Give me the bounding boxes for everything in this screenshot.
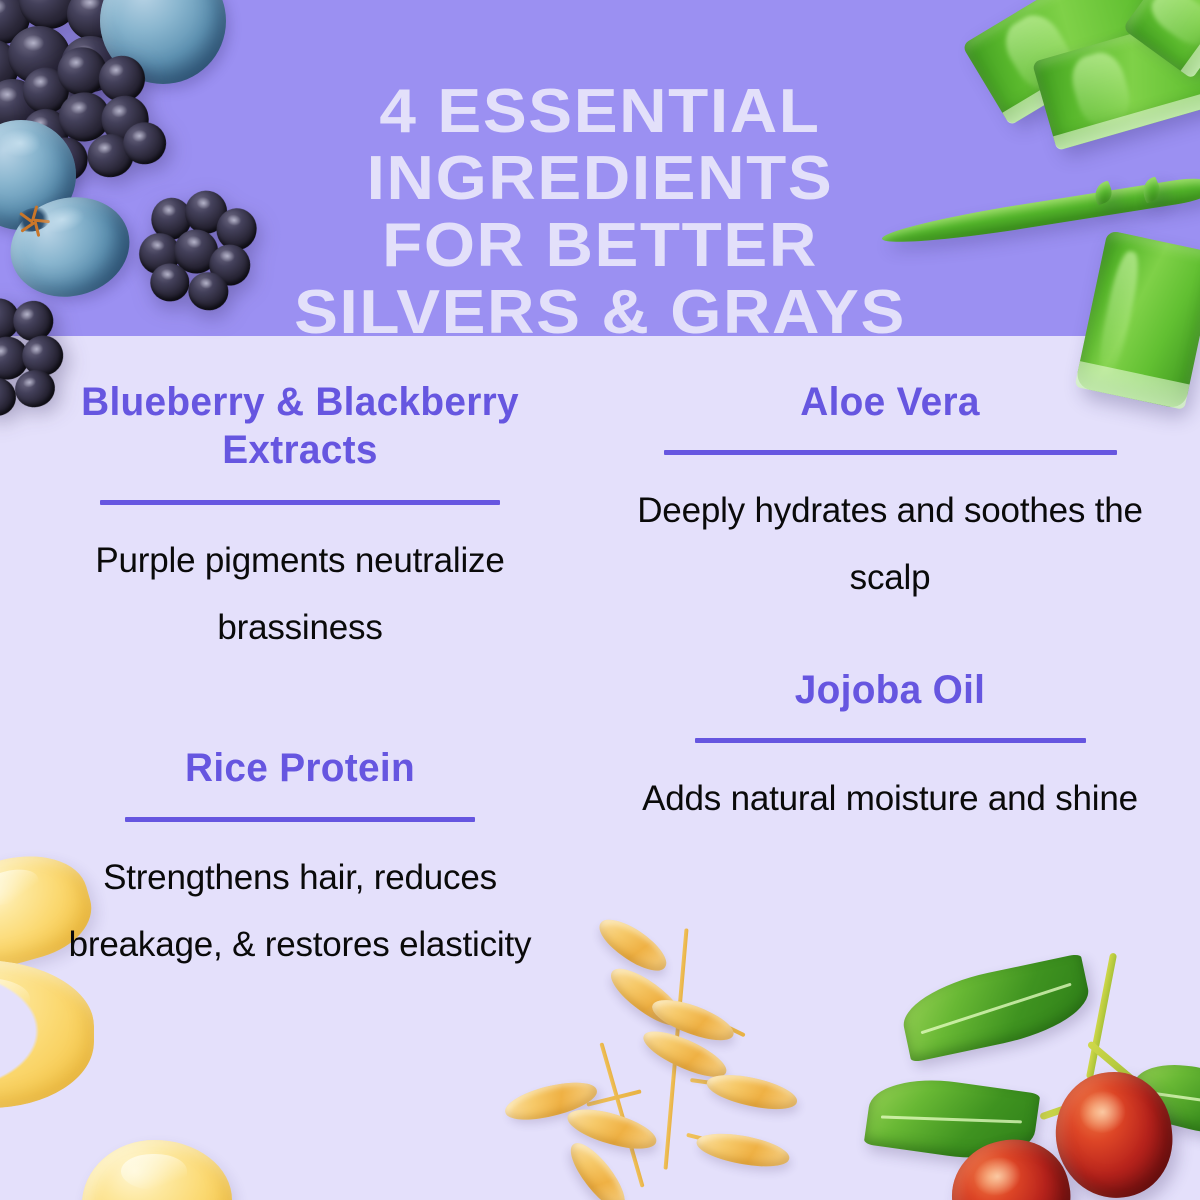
oil-blob-decoration xyxy=(0,960,94,1108)
ingredient-title-rice-protein: Rice Protein xyxy=(38,744,562,792)
ingredient-title-berries: Blueberry & Blackberry Extracts xyxy=(38,378,562,474)
oat-grain xyxy=(648,992,738,1048)
ingredient-body-jojoba-oil: Adds natural moisture and shine xyxy=(610,765,1170,832)
oat-grain xyxy=(564,1102,661,1156)
ingredient-title-jojoba-oil: Jojoba Oil xyxy=(618,666,1161,714)
ingredient-cards: Blueberry & Blackberry Extracts Purple p… xyxy=(0,336,1200,1200)
ingredient-divider-aloe-vera xyxy=(664,450,1117,455)
ingredient-body-aloe-vera: Deeply hydrates and soothes the scalp xyxy=(610,477,1170,611)
ingredients-infographic: 4 ESSENTIAL INGREDIENTS FOR BETTER SILVE… xyxy=(0,0,1200,1200)
oat-grain xyxy=(592,911,673,979)
oat-grain xyxy=(502,1075,600,1127)
ingredient-body-berries: Purple pigments neutralize brassiness xyxy=(30,527,570,661)
oil-blob-decoration xyxy=(82,1140,232,1200)
ingredient-title-aloe-vera: Aloe Vera xyxy=(618,378,1161,426)
jojoba-leaf xyxy=(864,1071,1041,1168)
ingredient-card-aloe-vera: Aloe Vera Deeply hydrates and soothes th… xyxy=(610,378,1170,611)
jojoba-fruit xyxy=(942,1129,1080,1200)
jojoba-leaf xyxy=(1126,1053,1200,1145)
jojoba-leaf xyxy=(897,953,1096,1063)
header-band xyxy=(0,0,1200,336)
oat-grain xyxy=(638,1023,732,1085)
ingredient-divider-berries xyxy=(100,500,500,505)
oat-sprig-decoration xyxy=(500,900,860,1200)
oat-grain xyxy=(694,1128,791,1172)
ingredient-divider-jojoba-oil xyxy=(695,738,1086,743)
ingredient-card-berries: Blueberry & Blackberry Extracts Purple p… xyxy=(30,378,570,661)
oat-grain xyxy=(562,1136,633,1200)
ingredient-divider-rice-protein xyxy=(125,817,475,822)
ingredient-card-jojoba-oil: Jojoba Oil Adds natural moisture and shi… xyxy=(610,666,1170,832)
oat-grain xyxy=(704,1069,800,1116)
ingredient-body-rice-protein: Strengthens hair, reduces breakage, & re… xyxy=(30,844,570,978)
ingredient-card-rice-protein: Rice Protein Strengthens hair, reduces b… xyxy=(30,744,570,978)
oat-grain xyxy=(603,960,690,1035)
jojoba-fruit xyxy=(1050,1066,1179,1200)
oil-blob-decoration xyxy=(0,840,101,981)
jojoba-branch-decoration xyxy=(860,950,1200,1200)
